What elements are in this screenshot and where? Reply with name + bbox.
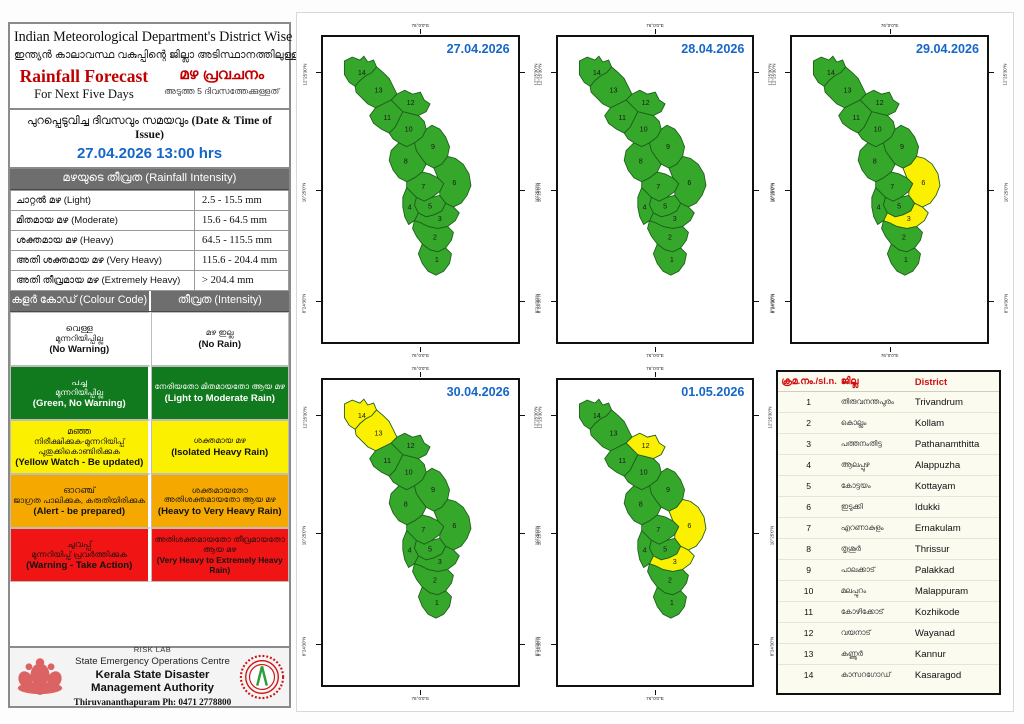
map-frame: 30.04.20261234567891011121314 [321,378,520,687]
latitude-tick [754,533,759,534]
district-name-en: Wayanad [911,623,999,644]
district-number-6: 6 [452,521,456,530]
district-sl: 10 [778,581,839,602]
legend-colour-cell: പച്ചമുന്നറിയിപ്പില്ല(Green, No Warning) [10,366,151,420]
district-number-13: 13 [374,86,382,95]
district-table-box: ക്രമ.നം./sl.n.ജില്ലDistrict1തിരുവനന്തപുര… [776,370,1001,695]
ksdma-seal-icon [239,654,285,700]
district-number-10: 10 [405,467,413,476]
latitude-axis-left: 12°25'30"N10°25'0"N8°24'30"N [305,35,321,344]
legend-colour-desc-ml: മുന്നറിയിപ്പില്ല [55,388,103,398]
map-frame: 28.04.20261234567891011121314 [556,35,755,344]
risk-lab-label: RISK LAB [66,646,239,655]
district-sl: 5 [778,476,839,497]
district-name-en: Thrissur [911,539,999,560]
district-number-2: 2 [433,233,437,242]
latitude-axis-left: 12°25'30"N10°25'0"N8°24'30"N [540,35,556,344]
district-row[interactable]: 9പാലക്കാട്Palakkad [778,560,999,581]
longitude-label-bot: 76°0'0"E [305,696,536,701]
latitude-tick [785,72,790,73]
kerala-map-svg: 1234567891011121314 [558,37,753,342]
latitude-label: 8°24'30"N [536,293,541,313]
legend-colour-cell: ചുവപ്പ്മുന്നറിയിപ്പ് പ്രവർത്തിക്കുക(Warn… [10,528,151,582]
district-number-2: 2 [433,576,437,585]
district-number-8: 8 [404,157,408,166]
district-sl: 9 [778,560,839,581]
legend-colour-name-en: (Yellow Watch - Be updated) [15,457,143,468]
district-name-ml: തൃശൂർ [839,539,911,560]
district-number-1: 1 [670,255,674,264]
colour-code-head-left: കളർ കോഡ് (Colour Code) [10,291,151,311]
latitude-tick [989,301,994,302]
district-number-5: 5 [428,544,432,553]
district-number-3: 3 [438,214,442,223]
latitude-label: 8°24'30"N [301,636,306,656]
latitude-label: 8°24'30"N [301,293,306,313]
district-number-1: 1 [904,255,908,264]
district-number-9: 9 [431,142,435,151]
district-row[interactable]: 14കാസറഗോഡ്Kasaragod [778,665,999,686]
ksdma-label: Kerala State Disaster Management Authori… [66,669,239,696]
district-name-ml: എറണാകുളം [839,518,911,539]
district-name-ml: വയനാട് [839,623,911,644]
district-name-ml: മലപ്പുറം [839,581,911,602]
district-row[interactable]: 2കൊല്ലംKollam [778,413,999,434]
footer-address: Thiruvananthapuram Ph: 0471 2778800 [66,697,239,708]
district-number-12: 12 [641,98,649,107]
latitude-tick [754,644,759,645]
latitude-label: 10°25'0"N [301,525,306,545]
longitude-tick-top [655,372,656,377]
legend-colour-desc-ml: മുന്നറിയിപ്പ് പ്രവർത്തിക്കുക [31,550,127,560]
district-row[interactable]: 5കോട്ടയംKottayam [778,476,999,497]
district-number-13: 13 [374,429,382,438]
latitude-tick [989,72,994,73]
map-frame: 01.05.20261234567891011121314 [556,378,755,687]
map-panel-29.04.2026: 29.04.2026123456789101112131476°0'0"E76°… [774,21,1005,360]
district-name-en: Kozhikode [911,602,999,623]
district-row[interactable]: 8തൃശൂർThrissur [778,539,999,560]
district-number-11: 11 [618,113,625,122]
latitude-tick [551,533,556,534]
district-number-8: 8 [638,500,642,509]
legend-colour-cell: മഞ്ഞനിരീക്ഷിക്കുക-മുന്നറിയിപ്പ് പുതുക്കി… [10,420,151,474]
district-number-4: 4 [642,545,646,554]
issue-datetime: 27.04.2026 13:00 hrs [12,145,287,162]
district-name-ml: പത്തനംതിട്ട [839,434,911,455]
map-panel-30.04.2026: 30.04.2026123456789101112131476°0'0"E76°… [305,364,536,703]
latitude-tick [316,533,321,534]
legend-row-white: വെള്ളമുന്നറിയിപ്പില്ല(No Warning)മഴ ഇല്ല… [10,312,289,366]
forecast-poster: Indian Meteorological Department's Distr… [0,0,1024,724]
district-number-2: 2 [668,576,672,585]
map-date-label: 27.04.2026 [447,42,510,56]
intensity-label: ശക്തമായ മഴ (Heavy) [11,231,195,251]
map-frame: 27.04.20261234567891011121314 [321,35,520,344]
district-number-7: 7 [421,182,425,191]
district-number-8: 8 [638,157,642,166]
latitude-label: 10°25'0"N [1004,182,1009,202]
district-number-14: 14 [593,411,601,420]
district-number-12: 12 [407,441,415,450]
latitude-label: 8°24'30"N [771,293,776,313]
district-name-ml: കോഴിക്കോട് [839,602,911,623]
district-table: ക്രമ.നം./sl.n.ജില്ലDistrict1തിരുവനന്തപുര… [778,372,999,686]
district-name-ml: കണ്ണൂർ [839,644,911,665]
intensity-label: മിതമായ മഴ (Moderate) [11,211,195,231]
issue-block: പുറപ്പെടുവിച്ച ദിവസവും സമയവും (Date & Ti… [10,110,289,169]
district-sl: 14 [778,665,839,686]
latitude-label: 12°25'30"N [537,64,542,86]
district-number-7: 7 [656,182,660,191]
map-date-label: 01.05.2026 [681,385,744,399]
legend-intensity-cell: ശക്തമായ മഴ(Isolated Heavy Rain) [151,420,290,474]
title-block: Indian Meteorological Department's Distr… [10,24,289,110]
intensity-range: > 204.4 mm [195,271,289,291]
longitude-tick-top [655,29,656,34]
district-name-en: Idukki [911,497,999,518]
district-number-2: 2 [902,233,906,242]
map-frame: 29.04.20261234567891011121314 [790,35,989,344]
district-name-ml: കാസറഗോഡ് [839,665,911,686]
district-number-8: 8 [404,500,408,509]
legend-colour-name-en: (Green, No Warning) [33,398,126,409]
district-number-7: 7 [891,182,895,191]
latitude-tick [989,190,994,191]
district-sl: 6 [778,497,839,518]
map-panel-27.04.2026: 27.04.2026123456789101112131476°0'0"E76°… [305,21,536,360]
intensity-range: 64.5 - 115.5 mm [195,231,289,251]
latitude-tick [785,301,790,302]
district-number-3: 3 [672,557,676,566]
latitude-tick [520,190,525,191]
district-number-13: 13 [609,429,617,438]
latitude-tick [754,301,759,302]
latitude-label: 10°25'0"N [536,525,541,545]
district-number-14: 14 [593,68,601,77]
latitude-axis-right: 12°25'30"N10°25'0"N8°24'30"N [520,35,536,344]
district-number-3: 3 [438,557,442,566]
latitude-tick [551,190,556,191]
longitude-label-bot: 76°0'0"E [305,353,536,358]
legend-intensity-cell: നേരിയതോ മിതമായതോ ആയ മഴ(Light to Moderate… [151,366,290,420]
district-sl: 13 [778,644,839,665]
legend-colour-name-ml: ചുവപ്പ് [67,539,92,550]
legend-intensity-cell: ശക്തമായതോ അതിശക്തമായതോ ആയ മഴ(Heavy to Ve… [151,474,290,528]
latitude-tick [754,72,759,73]
district-number-4: 4 [642,202,646,211]
latitude-tick [520,415,525,416]
longitude-tick-top [890,29,891,34]
longitude-tick-top [420,372,421,377]
district-name-ml: കോട്ടയം [839,476,911,497]
district-name-en: Trivandrum [911,392,999,413]
intensity-range: 2.5 - 15.5 mm [195,191,289,211]
legend-colour-name-ml: പച്ച [71,377,87,388]
latitude-label: 12°25'30"N [768,407,773,429]
district-sl: 12 [778,623,839,644]
latitude-label: 10°25'0"N [771,182,776,202]
district-reference-panel: ക്രമ.നം./sl.n.ജില്ലDistrict1തിരുവനന്തപുര… [774,364,1005,703]
district-number-9: 9 [666,142,670,151]
colour-code-legend: വെള്ളമുന്നറിയിപ്പില്ല(No Warning)മഴ ഇല്ല… [10,312,289,582]
district-number-11: 11 [853,113,860,122]
issue-label-ml: പുറപ്പെടുവിച്ച ദിവസവും സമയവും [27,115,188,127]
district-number-10: 10 [639,467,647,476]
district-number-3: 3 [907,214,911,223]
latitude-axis-left: 12°25'30"N10°25'0"N8°24'30"N [540,378,556,687]
legend-colour-name-en: (No Warning) [49,344,109,355]
district-number-1: 1 [435,598,439,607]
district-number-6: 6 [687,521,691,530]
legend-intensity-ml: മഴ ഇല്ല [206,328,234,338]
latitude-axis-left: 12°25'30"N10°25'0"N8°24'30"N [774,35,790,344]
legend-colour-cell: വെള്ളമുന്നറിയിപ്പില്ല(No Warning) [10,312,151,366]
district-number-5: 5 [663,201,667,210]
seoc-label: State Emergency Operations Centre [66,656,239,667]
kerala-map-svg: 1234567891011121314 [792,37,987,342]
district-number-12: 12 [407,98,415,107]
latitude-label: 10°25'0"N [769,525,774,545]
district-row[interactable]: 7എറണാകുളംErnakulam [778,518,999,539]
map-panel-28.04.2026: 28.04.2026123456789101112131476°0'0"E76°… [540,21,771,360]
district-number-11: 11 [618,456,625,465]
legend-intensity-en: (No Rain) [198,339,241,350]
longitude-tick-bot [890,347,891,352]
legend-colour-desc-ml: ജാഗ്രത പാലിക്കുക, കരുതിയിരിക്കുക [13,496,145,506]
latitude-tick [316,301,321,302]
legend-intensity-cell: മഴ ഇല്ല(No Rain) [151,312,290,366]
rainfall-forecast-en: Rainfall Forecast [20,67,148,85]
district-sl: 1 [778,392,839,413]
latitude-axis-left: 12°25'30"N10°25'0"N8°24'30"N [305,378,321,687]
district-sl: 4 [778,455,839,476]
district-name-ml: തിരുവനന്തപുരം [839,392,911,413]
imd-title-en: Indian Meteorological Department's Distr… [14,29,285,46]
latitude-label: 8°24'30"N [536,636,541,656]
legend-intensity-en: (Very Heavy to Extremely Heavy Rain) [154,556,287,576]
district-row[interactable]: 13കണ്ണൂർKannur [778,644,999,665]
district-sl: 11 [778,602,839,623]
legend-intensity-ml: ശക്തമായതോ അതിശക്തമായതോ ആയ മഴ [154,486,287,505]
district-header-en: District [911,372,999,392]
district-row[interactable]: 10മലപ്പുറംMalappuram [778,581,999,602]
latitude-label: 10°25'0"N [301,182,306,202]
district-number-6: 6 [452,178,456,187]
legend-colour-desc-ml: നിരീക്ഷിക്കുക-മുന്നറിയിപ്പ് പുതുക്കികൊണ്… [13,437,146,456]
district-number-1: 1 [435,255,439,264]
latitude-tick [316,644,321,645]
intensity-row: മിതമായ മഴ (Moderate)15.6 - 64.5 mm [11,211,289,231]
intensity-section-title: മഴയുടെ തീവ്രത (Rainfall Intensity) [10,169,289,190]
district-row[interactable]: 11കോഴിക്കോട്Kozhikode [778,602,999,623]
district-name-ml: ഇടുക്കി [839,497,911,518]
latitude-label: 12°25'30"N [302,407,307,429]
legend-row-orange: ഓറഞ്ച്ജാഗ്രത പാലിക്കുക, കരുതിയിരിക്കുക(A… [10,474,289,528]
district-table-header-row: ക്രമ.നം./sl.n.ജില്ലDistrict [778,372,999,392]
district-number-14: 14 [827,68,835,77]
district-number-12: 12 [876,98,884,107]
district-header-ml: ജില്ല [839,372,911,392]
latitude-tick [785,190,790,191]
district-number-10: 10 [639,124,647,133]
map-date-label: 30.04.2026 [447,385,510,399]
district-name-en: Kasaragod [911,665,999,686]
district-number-9: 9 [666,485,670,494]
district-number-7: 7 [656,525,660,534]
kerala-emblem-icon [14,654,66,700]
rainfall-forecast-ml: മഴ പ്രവചനം [164,67,279,83]
latitude-tick [520,644,525,645]
map-date-label: 29.04.2026 [916,42,979,56]
legend-colour-name-ml: വെള്ള [66,323,93,334]
longitude-tick-top [420,29,421,34]
longitude-label-bot: 76°0'0"E [774,353,1005,358]
latitude-label: 12°25'30"N [772,64,777,86]
district-number-5: 5 [428,201,432,210]
intensity-label: അതി ശക്തമായ മഴ (Very Heavy) [11,251,195,271]
district-number-11: 11 [384,113,391,122]
district-name-en: Palakkad [911,560,999,581]
district-number-3: 3 [672,214,676,223]
maps-area: 27.04.2026123456789101112131476°0'0"E76°… [296,12,1014,712]
district-number-2: 2 [668,233,672,242]
colour-code-head-right: തീവ്രത (Intensity) [151,291,290,311]
maps-grid: 27.04.2026123456789101112131476°0'0"E76°… [297,13,1013,711]
district-number-8: 8 [873,157,877,166]
district-name-ml: കൊല്ലം [839,413,911,434]
longitude-label-top: 76°0'0"E [540,366,771,371]
latitude-label: 10°25'0"N [536,182,541,202]
district-number-5: 5 [663,544,667,553]
legend-colour-desc-ml: മുന്നറിയിപ്പില്ല [55,334,103,344]
legend-colour-name-ml: ഓറഞ്ച് [63,485,95,496]
legend-intensity-ml: നേരിയതോ മിതമായതോ ആയ മഴ [155,382,285,392]
legend-row-red: ചുവപ്പ്മുന്നറിയിപ്പ് പ്രവർത്തിക്കുക(Warn… [10,528,289,582]
intensity-range: 115.6 - 204.4 mm [195,251,289,271]
intensity-label: ചാറ്റൽ മഴ (Light) [11,191,195,211]
legend-colour-name-en: (Warning - Take Action) [26,560,132,571]
latitude-tick [754,415,759,416]
latitude-tick [520,72,525,73]
district-number-9: 9 [900,142,904,151]
latitude-label: 12°25'30"N [1003,64,1008,86]
kerala-map-svg: 1234567891011121314 [323,37,518,342]
longitude-label-top: 76°0'0"E [305,23,536,28]
legend-intensity-cell: അതിശക്തമായതോ തീവ്രമായതോ ആയ മഴ(Very Heavy… [151,528,290,582]
latitude-tick [316,190,321,191]
longitude-label-bot: 76°0'0"E [540,696,771,701]
kerala-map-svg: 1234567891011121314 [323,380,518,685]
latitude-tick [551,644,556,645]
intensity-row: അതി തീവ്രമായ മഴ (Extremely Heavy)> 204.4… [11,271,289,291]
latitude-tick [316,72,321,73]
intensity-range: 15.6 - 64.5 mm [195,211,289,231]
district-number-12: 12 [641,441,649,450]
district-number-4: 4 [408,202,412,211]
latitude-tick [551,415,556,416]
longitude-label-top: 76°0'0"E [540,23,771,28]
intensity-label: അതി തീവ്രമായ മഴ (Extremely Heavy) [11,271,195,291]
latitude-tick [551,301,556,302]
latitude-label: 12°25'30"N [537,407,542,429]
intensity-table: ചാറ്റൽ മഴ (Light)2.5 - 15.5 mmമിതമായ മഴ … [10,190,289,291]
district-number-9: 9 [431,485,435,494]
district-row[interactable]: 6ഇടുക്കിIdukki [778,497,999,518]
next-five-days-ml: അടുത്ത 5 ദിവസത്തേക്കുള്ളത് [164,86,279,97]
district-name-ml: പാലക്കാട് [839,560,911,581]
district-number-7: 7 [421,525,425,534]
district-number-14: 14 [358,68,366,77]
legend-colour-name-ml: മഞ്ഞ [67,426,91,437]
latitude-axis-right: 12°25'30"N10°25'0"N8°24'30"N [754,35,770,344]
latitude-tick [520,533,525,534]
district-name-en: Alappuzha [911,455,999,476]
longitude-label-top: 76°0'0"E [774,23,1005,28]
legend-colour-cell: ഓറഞ്ച്ജാഗ്രത പാലിക്കുക, കരുതിയിരിക്കുക(A… [10,474,151,528]
intensity-row: അതി ശക്തമായ മഴ (Very Heavy)115.6 - 204.4… [11,251,289,271]
footer: RISK LAB State Emergency Operations Cent… [10,646,289,706]
district-number-14: 14 [358,411,366,420]
longitude-tick-bot [420,690,421,695]
longitude-tick-bot [655,690,656,695]
legend-row-yellow: മഞ്ഞനിരീക്ഷിക്കുക-മുന്നറിയിപ്പ് പുതുക്കി… [10,420,289,474]
imd-title-ml: ഇന്ത്യൻ കാലാവസ്ഥ വകുപ്പിന്റെ ജില്ലാ അടിസ… [14,49,285,62]
district-number-11: 11 [384,456,391,465]
latitude-tick [520,301,525,302]
district-name-en: Kottayam [911,476,999,497]
latitude-label: 12°25'30"N [302,64,307,86]
district-number-10: 10 [405,124,413,133]
legend-intensity-en: (Heavy to Very Heavy Rain) [158,506,282,517]
district-sl: 3 [778,434,839,455]
intensity-row: ശക്തമായ മഴ (Heavy)64.5 - 115.5 mm [11,231,289,251]
legend-intensity-en: (Isolated Heavy Rain) [171,447,268,458]
latitude-label: 8°24'30"N [1004,293,1009,313]
latitude-axis-right: 12°25'30"N10°25'0"N8°24'30"N [754,378,770,687]
district-number-6: 6 [687,178,691,187]
map-date-label: 28.04.2026 [681,42,744,56]
district-sl: 7 [778,518,839,539]
district-number-4: 4 [408,545,412,554]
intensity-row: ചാറ്റൽ മഴ (Light)2.5 - 15.5 mm [11,191,289,211]
longitude-tick-bot [420,347,421,352]
next-five-days-en: For Next Five Days [20,87,148,102]
latitude-tick [316,415,321,416]
district-name-en: Kannur [911,644,999,665]
legend-row-green: പച്ചമുന്നറിയിപ്പില്ല(Green, No Warning)ന… [10,366,289,420]
latitude-tick [551,72,556,73]
district-number-13: 13 [844,86,852,95]
colour-code-header: കളർ കോഡ് (Colour Code) തീവ്രത (Intensity… [10,291,289,312]
district-row[interactable]: 12വയനാട്Wayanad [778,623,999,644]
legend-intensity-ml: ശക്തമായ മഴ [194,436,246,446]
longitude-tick-bot [655,347,656,352]
district-row[interactable]: 3പത്തനംതിട്ടPathanamthitta [778,434,999,455]
district-number-10: 10 [874,124,882,133]
district-row[interactable]: 4ആലപ്പുഴAlappuzha [778,455,999,476]
district-number-6: 6 [922,178,926,187]
district-row[interactable]: 1തിരുവനന്തപുരംTrivandrum [778,392,999,413]
district-name-en: Malappuram [911,581,999,602]
district-sl: 8 [778,539,839,560]
latitude-label: 8°24'30"N [769,636,774,656]
district-number-5: 5 [897,201,901,210]
latitude-axis-right: 12°25'30"N10°25'0"N8°24'30"N [989,35,1005,344]
district-number-1: 1 [670,598,674,607]
legend-panel: Indian Meteorological Department's Distr… [8,22,291,708]
legend-colour-name-en: (Alert - be prepared) [33,506,125,517]
